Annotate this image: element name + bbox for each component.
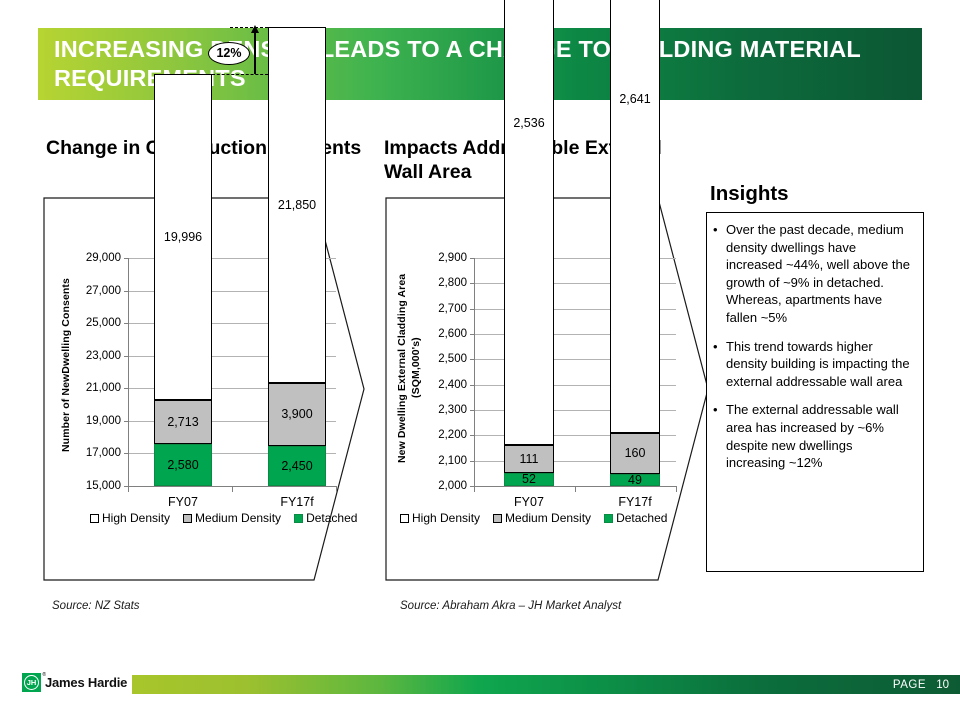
james-hardie-mark-icon: JH ® — [22, 673, 41, 692]
bar-segment-medium-density[interactable]: 160 — [610, 433, 660, 474]
james-hardie-logo: JH ® James Hardie — [22, 673, 127, 692]
y-axis-tick-label: 2,000 — [438, 480, 467, 492]
y-axis-tick-label: 2,100 — [438, 455, 467, 467]
legend-label-high-density: High Density — [102, 511, 170, 525]
bar-segment-high-density[interactable]: 52 — [504, 473, 554, 486]
insight-text: This trend towards higher density buildi… — [726, 338, 915, 391]
chart2-legend: High Density Medium Density Detached — [400, 511, 667, 525]
y-axis-tick-label: 2,800 — [438, 277, 467, 289]
insight-bullet: •Over the past decade, medium density dw… — [713, 221, 915, 327]
y-axis-tick-label: 19,000 — [86, 415, 121, 427]
x-axis-category-label: FY07 — [132, 495, 234, 509]
bar-value-label: 52 — [522, 472, 536, 486]
insights-box: •Over the past decade, medium density dw… — [706, 212, 924, 572]
legend-swatch-high-density-icon — [90, 514, 99, 523]
bar-value-label: 19,996 — [164, 230, 202, 244]
page-label: PAGE — [893, 679, 960, 691]
chart2-plot-area: 2,0002,1002,2002,3002,4002,5002,6002,700… — [474, 258, 676, 486]
growth-percentage-callout: 12% — [208, 42, 250, 65]
legend-item-high-density: High Density — [400, 511, 480, 525]
legend-label-detached: Detached — [306, 511, 357, 525]
insights-title: Insights — [710, 182, 930, 206]
slide: INCREASING DENSITY LEADS TO A CHANGE TO … — [0, 0, 960, 720]
bullet-dot-icon: • — [713, 221, 726, 327]
chart1-y-axis-label: Number of NewDwelling Consents — [60, 250, 74, 480]
legend-item-detached: Detached — [294, 511, 357, 525]
annotation-baseline-dashed — [212, 74, 268, 75]
stacked-bar-fy07[interactable]: 521112,536 — [504, 258, 554, 486]
x-axis-tick-mark — [232, 486, 233, 492]
bar-value-label: 2,580 — [167, 458, 198, 472]
legend-swatch-medium-density-icon — [493, 514, 502, 523]
bar-segment-detached[interactable]: 2,641 — [610, 0, 660, 433]
bar-value-label: 2,536 — [513, 116, 544, 130]
growth-arrowhead-icon — [251, 25, 259, 33]
growth-arrow — [254, 32, 256, 74]
legend-swatch-high-density-icon — [400, 514, 409, 523]
legend-label-high-density: High Density — [412, 511, 480, 525]
legend-item-medium-density: Medium Density — [493, 511, 591, 525]
y-axis-tick-label: 23,000 — [86, 350, 121, 362]
insight-bullet: •The external addressable wall area has … — [713, 401, 915, 471]
registered-trademark-icon: ® — [42, 672, 46, 678]
x-axis-tick-mark — [676, 486, 677, 492]
bullet-dot-icon: • — [713, 338, 726, 391]
legend-label-medium-density: Medium Density — [505, 511, 591, 525]
stacked-bar-fy07[interactable]: 2,5802,71319,996 — [154, 258, 212, 486]
stacked-bar-fy17f[interactable]: 2,4503,90021,850 — [268, 258, 326, 486]
y-axis-tick-label: 25,000 — [86, 317, 121, 329]
legend-item-detached: Detached — [604, 511, 667, 525]
x-axis-tick-mark — [336, 486, 337, 492]
legend-label-medium-density: Medium Density — [195, 511, 281, 525]
y-axis-tick-label: 21,000 — [86, 382, 121, 394]
legend-swatch-medium-density-icon — [183, 514, 192, 523]
y-axis-tick-label: 17,000 — [86, 447, 121, 459]
insight-text: Over the past decade, medium density dwe… — [726, 221, 915, 327]
construction-consents-chart: Number of NewDwelling Consents 15,00017,… — [44, 198, 364, 580]
chart1-legend: High Density Medium Density Detached — [90, 511, 357, 525]
y-axis-tick-label: 15,000 — [86, 480, 121, 492]
stacked-bar-fy17f[interactable]: 491602,641 — [610, 258, 660, 486]
bar-segment-medium-density[interactable]: 3,900 — [268, 383, 326, 447]
insight-bullet: •This trend towards higher density build… — [713, 338, 915, 391]
legend-swatch-detached-icon — [294, 514, 303, 523]
y-axis-tick-label: 2,700 — [438, 303, 467, 315]
bar-value-label: 160 — [625, 446, 646, 460]
slide-footer: JH ® James Hardie PAGE 10 — [0, 670, 960, 700]
logo-monogram: JH — [24, 675, 39, 690]
bar-segment-high-density[interactable]: 2,450 — [268, 446, 326, 486]
x-axis-tick-mark — [575, 486, 576, 492]
chart2-source: Source: Abraham Akra – JH Market Analyst — [400, 600, 621, 612]
bar-value-label: 111 — [519, 452, 538, 466]
bar-value-label: 2,713 — [167, 415, 198, 429]
y-axis-tick-label: 2,400 — [438, 379, 467, 391]
bar-value-label: 49 — [628, 473, 642, 487]
chart2-y-axis-label-line1: New Dwelling External Cladding Area — [396, 246, 410, 490]
legend-swatch-detached-icon — [604, 514, 613, 523]
y-axis-line — [128, 258, 129, 486]
y-axis-tick-label: 29,000 — [86, 252, 121, 264]
y-axis-tick-label: 2,600 — [438, 328, 467, 340]
bar-value-label: 3,900 — [281, 407, 312, 421]
bar-value-label: 21,850 — [278, 198, 316, 212]
y-axis-line — [474, 258, 475, 486]
x-axis-category-label: FY17f — [588, 495, 682, 509]
chart1-plot-area: 15,00017,00019,00021,00023,00025,00027,0… — [128, 258, 336, 486]
legend-item-high-density: High Density — [90, 511, 170, 525]
y-axis-tick-label: 27,000 — [86, 285, 121, 297]
y-axis-tick-label: 2,900 — [438, 252, 467, 264]
bar-segment-medium-density[interactable]: 2,713 — [154, 400, 212, 444]
footer-gradient-bar: PAGE 10 — [132, 675, 960, 694]
chart2-y-axis-label-line2: (SQM,000's) — [410, 246, 424, 490]
legend-label-detached: Detached — [616, 511, 667, 525]
x-axis-tick-mark — [128, 486, 129, 492]
bar-segment-high-density[interactable]: 49 — [610, 474, 660, 486]
insight-text: The external addressable wall area has i… — [726, 401, 915, 471]
bar-segment-medium-density[interactable]: 111 — [504, 445, 554, 473]
bar-value-label: 2,641 — [619, 92, 650, 106]
x-axis-category-label: FY07 — [482, 495, 576, 509]
y-axis-tick-label: 2,500 — [438, 353, 467, 365]
chart1-source: Source: NZ Stats — [52, 600, 140, 612]
bar-segment-detached[interactable]: 19,996 — [154, 74, 212, 400]
x-axis-tick-mark — [474, 486, 475, 492]
page-number: 10 — [936, 679, 949, 691]
y-axis-tick-label: 2,300 — [438, 404, 467, 416]
bar-segment-detached[interactable]: 2,536 — [504, 0, 554, 445]
bar-value-label: 2,450 — [281, 459, 312, 473]
annotation-topline-dashed — [230, 27, 268, 28]
bar-segment-detached[interactable]: 21,850 — [268, 27, 326, 383]
bullet-dot-icon: • — [713, 401, 726, 471]
bar-segment-high-density[interactable]: 2,580 — [154, 444, 212, 486]
brand-name: James Hardie — [45, 675, 127, 690]
y-axis-tick-label: 2,200 — [438, 429, 467, 441]
legend-item-medium-density: Medium Density — [183, 511, 281, 525]
external-wall-area-chart: New Dwelling External Cladding Area (SQM… — [386, 198, 708, 580]
x-axis-category-label: FY17f — [246, 495, 348, 509]
